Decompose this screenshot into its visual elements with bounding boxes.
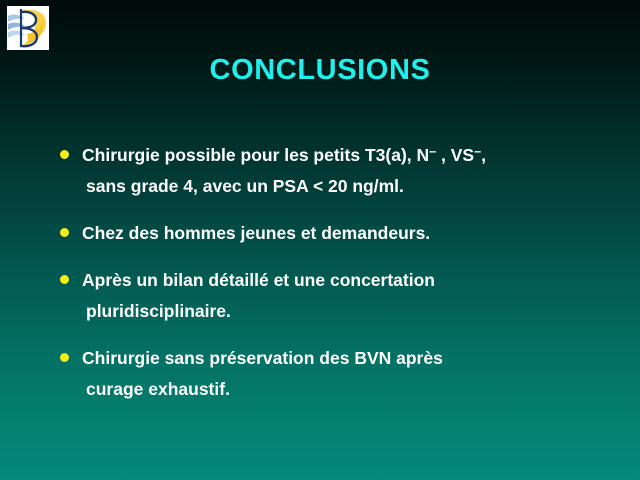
bullet-text-4: Chirurgie sans préservation des BVN aprè… <box>82 343 622 405</box>
bullet-list: Chirurgie possible pour les petits T3(a)… <box>56 140 622 421</box>
bullet-marker-icon <box>60 228 69 237</box>
bullet-text-3: Après un bilan détaillé et une concertat… <box>82 265 622 327</box>
bullet-item-2: Chez des hommes jeunes et demandeurs. <box>56 218 622 249</box>
bullet-item-4: Chirurgie sans préservation des BVN aprè… <box>56 343 622 405</box>
slide-canvas: CONCLUSIONS Chirurgie possible pour les … <box>0 0 640 480</box>
bullet-line-4b: curage exhaustif. <box>82 374 622 405</box>
bullet-marker-icon <box>60 353 69 362</box>
bullet-text-2: Chez des hommes jeunes et demandeurs. <box>82 218 622 249</box>
bullet-item-3: Après un bilan détaillé et une concertat… <box>56 265 622 327</box>
bullet-1-mid: , VS <box>436 145 474 165</box>
bullet-line-1b: sans grade 4, avec un PSA < 20 ng/ml. <box>82 171 622 202</box>
slide-title: CONCLUSIONS <box>0 54 640 87</box>
bullet-line-2a: Chez des hommes jeunes et demandeurs. <box>82 218 622 249</box>
stylized-b-monogram-icon <box>7 6 49 50</box>
bullet-line-1a: Chirurgie possible pour les petits T3(a)… <box>82 140 622 171</box>
bullet-marker-icon <box>60 150 69 159</box>
bullet-line-4a: Chirurgie sans préservation des BVN aprè… <box>82 343 622 374</box>
bullet-1-suffix: , <box>481 145 486 165</box>
bullet-line-3b: pluridisciplinaire. <box>82 296 622 327</box>
bullet-1-prefix: Chirurgie possible pour les petits T3(a)… <box>82 145 429 165</box>
bullet-marker-icon <box>60 275 69 284</box>
organization-logo <box>7 6 49 50</box>
bullet-item-1: Chirurgie possible pour les petits T3(a)… <box>56 140 622 202</box>
bullet-line-3a: Après un bilan détaillé et une concertat… <box>82 265 622 296</box>
bullet-text-1: Chirurgie possible pour les petits T3(a)… <box>82 140 622 202</box>
